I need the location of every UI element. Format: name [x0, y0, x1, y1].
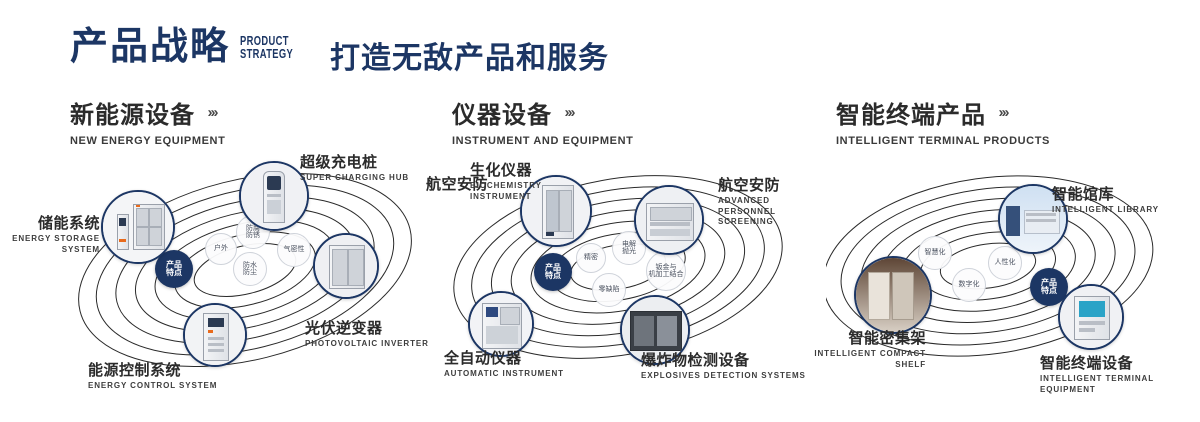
label-energy-control-system: 能源控制系统 ENERGY CONTROL SYSTEM — [88, 362, 217, 392]
label-super-charging-hub: 超级充电桩 SUPER CHARGING HUB — [300, 154, 409, 184]
node-intelligent-compact-shelf[interactable] — [854, 256, 932, 334]
page-title: 产品战略 — [70, 28, 230, 66]
screening-machine-photo — [636, 187, 702, 253]
compact-shelf-photo — [856, 258, 930, 332]
label-photovoltaic-inverter: 光伏逆变器 PHOTOVOLTAIC INVERTER — [305, 320, 429, 350]
node-energy-control-system[interactable] — [183, 303, 247, 367]
section-title-cn: 智能终端产品 — [836, 95, 986, 130]
inverter-cabinet-photo — [315, 235, 377, 297]
product-strategy-infographic: 产品战略 PRODUCT STRATEGY 打造无敌产品和服务 新能源设备 ››… — [0, 0, 1200, 422]
feature-bubble: 零缺陷 — [592, 273, 626, 307]
node-intelligent-terminal-equipment[interactable] — [1058, 284, 1124, 350]
feature-bubble: 精密 — [576, 243, 606, 273]
section-title-en: INSTRUMENT AND EQUIPMENT — [452, 135, 633, 147]
label-explosives-detection: 爆炸物检测设备 EXPLOSIVES DETECTION SYSTEMS — [641, 352, 806, 382]
control-cabinet-photo — [185, 305, 245, 365]
node-photovoltaic-inverter[interactable] — [313, 233, 379, 299]
automatic-instrument-photo — [470, 293, 532, 355]
feature-bubble: 气密性 — [277, 233, 311, 267]
terminal-kiosk-photo — [1060, 286, 1122, 348]
charging-pile-photo — [241, 163, 307, 229]
page-subtitle: 打造无敌产品和服务 — [330, 33, 609, 77]
feature-bubble: 防水 防尘 — [233, 252, 267, 286]
feature-bubble: 数字化 — [952, 268, 986, 302]
section-heading-instrument: 仪器设备 ››› INSTRUMENT AND EQUIPMENT — [452, 95, 633, 147]
page-title-en: PRODUCT STRATEGY — [230, 34, 314, 60]
chevrons-right-icon: ››› — [207, 104, 216, 121]
label-energy-storage: 储能系统 ENERGY STORAGE SYSTEM — [4, 215, 100, 255]
feature-bubble-main: 产品 特点 — [534, 253, 572, 291]
label-biochemistry-instrument: 生化仪器 BIOCHEMISTRY INSTRUMENT — [470, 162, 544, 202]
page-header: 产品战略 PRODUCT STRATEGY — [70, 28, 314, 66]
chevrons-right-icon: ››› — [564, 104, 573, 121]
label-intelligent-compact-shelf: 智能密集架 INTELLIGENT COMPACT SHELF — [800, 330, 926, 370]
section-title-cn: 新能源设备 — [70, 95, 195, 130]
node-energy-storage[interactable] — [101, 190, 175, 264]
section-title-en: NEW ENERGY EQUIPMENT — [70, 135, 225, 147]
section-heading-intelligent-terminal: 智能终端产品 ››› INTELLIGENT TERMINAL PRODUCTS — [836, 95, 1050, 147]
chevrons-right-icon: ››› — [998, 104, 1007, 121]
label-intelligent-terminal-equipment: 智能终端设备 INTELLIGENT TERMINAL EQUIPMENT — [1040, 355, 1200, 395]
node-automatic-instrument[interactable] — [468, 291, 534, 357]
label-intelligent-library: 智能馆库 INTELLIGENT LIBRARY — [1052, 186, 1159, 216]
node-super-charging-hub[interactable] — [239, 161, 309, 231]
node-advanced-personnel-screening[interactable] — [634, 185, 704, 255]
battery-cabinet-photo — [103, 192, 173, 262]
feature-bubble: 钣金与 机加工结合 — [646, 251, 686, 291]
feature-bubble: 户外 — [205, 233, 237, 265]
label-automatic-instrument: 全自动仪器 AUTOMATIC INSTRUMENT — [444, 350, 564, 380]
cluster-new-energy: 产品 特点 户外 防腐 防锈 防水 防尘 气密性 — [55, 155, 435, 385]
section-title-cn: 仪器设备 — [452, 95, 552, 130]
section-title-en: INTELLIGENT TERMINAL PRODUCTS — [836, 135, 1050, 147]
section-heading-new-energy: 新能源设备 ››› NEW ENERGY EQUIPMENT — [70, 95, 225, 147]
label-advanced-personnel-screening: 航空安防 ADVANCED PERSONNEL SCREENING — [718, 177, 812, 227]
